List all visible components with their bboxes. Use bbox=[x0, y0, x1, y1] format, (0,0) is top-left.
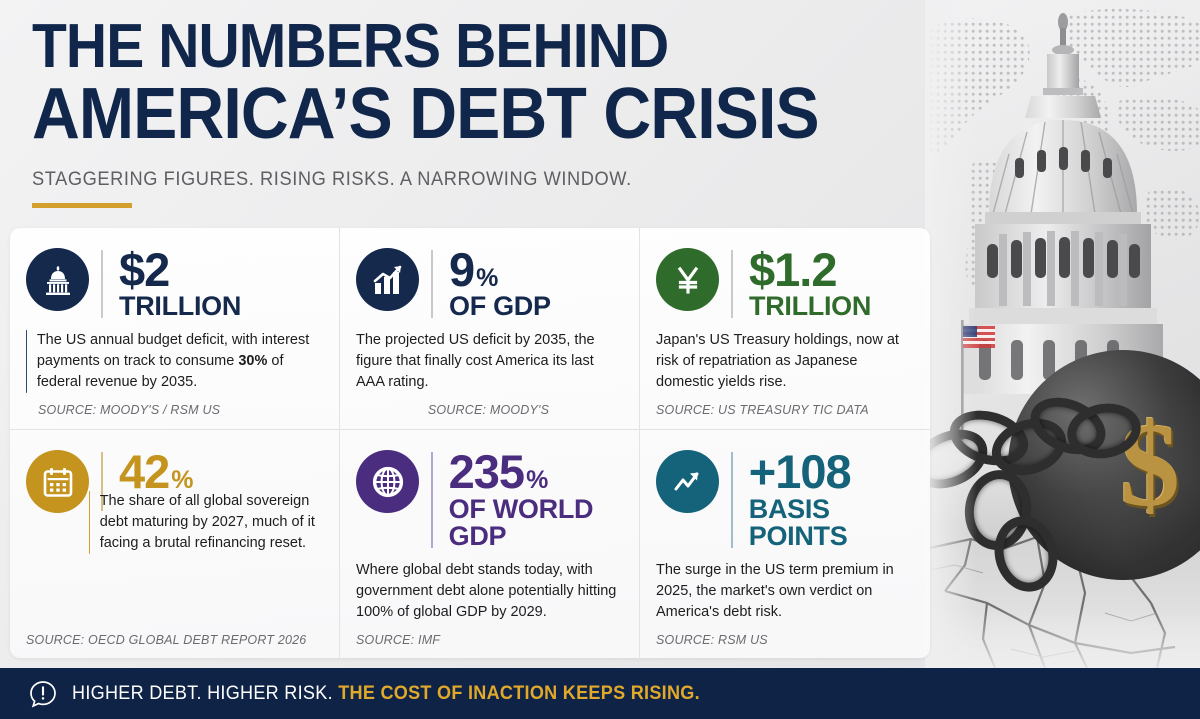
card-divider-rule bbox=[731, 250, 733, 318]
stat-description: Japan's US Treasury holdings, now at ris… bbox=[656, 330, 912, 393]
page-title-line1: THE NUMBERS BEHIND bbox=[32, 18, 768, 75]
stat-value: 9% bbox=[449, 248, 551, 291]
stat-source: SOURCE: IMF bbox=[356, 623, 621, 647]
stat-card-gdp-share: 9% OF GDP The projected US deficit by 20… bbox=[340, 228, 640, 430]
trending-up-arrow-icon bbox=[656, 450, 719, 513]
stat-description: The projected US deficit by 2035, the fi… bbox=[356, 330, 621, 393]
page-subtitle: STAGGERING FIGURES. RISING RISKS. A NARR… bbox=[32, 169, 800, 191]
stat-figure: $1.2 TRILLION bbox=[749, 248, 871, 320]
stat-card-world-debt: 235% OF WORLD GDP Where global debt stan… bbox=[340, 430, 640, 658]
stat-description: Where global debt stands today, with gov… bbox=[356, 560, 621, 623]
stat-figure: 235% OF WORLD GDP bbox=[449, 450, 621, 549]
stat-source: SOURCE: RSM US bbox=[656, 623, 912, 647]
card-divider-rule bbox=[431, 452, 433, 547]
stat-unit: TRILLION bbox=[749, 293, 871, 320]
stat-description: The US annual budget deficit, with inter… bbox=[37, 330, 321, 393]
infographic-root: $ THE NUMBERS BEHIND AMERICA’S DEBT CRIS… bbox=[0, 0, 1200, 719]
stat-unit: BASIS POINTS bbox=[749, 496, 912, 550]
stat-source: SOURCE: MOODY'S / RSM US bbox=[26, 393, 321, 417]
card-divider-rule bbox=[731, 452, 733, 547]
stat-figure: +108 BASIS POINTS bbox=[749, 450, 912, 549]
photo-bottom-fade bbox=[925, 608, 1200, 668]
page-header: THE NUMBERS BEHIND AMERICA’S DEBT CRISIS… bbox=[32, 18, 832, 208]
footer-bar: HIGHER DEBT. HIGHER RISK. THE COST OF IN… bbox=[0, 668, 1200, 719]
desc-accent-rule bbox=[26, 330, 27, 393]
stats-panel: $2 TRILLION The US annual budget deficit… bbox=[10, 228, 930, 658]
stat-figure: 9% OF GDP bbox=[449, 248, 551, 320]
stat-card-deficit: $2 TRILLION The US annual budget deficit… bbox=[10, 228, 340, 430]
stat-source: SOURCE: MOODY'S bbox=[356, 393, 621, 417]
bar-chart-growth-icon bbox=[356, 248, 419, 311]
stat-value: +108 bbox=[749, 450, 912, 493]
stat-unit: TRILLION bbox=[119, 293, 241, 320]
footer-text-highlight: THE COST OF INACTION KEEPS RISING. bbox=[338, 683, 700, 704]
alert-speech-bubble-icon bbox=[28, 679, 58, 709]
footer-text: HIGHER DEBT. HIGHER RISK. THE COST OF IN… bbox=[72, 683, 700, 705]
stat-description: The share of all global sovereign debt m… bbox=[100, 491, 321, 554]
capitol-building-icon bbox=[26, 248, 89, 311]
stat-description: The surge in the US term premium in 2025… bbox=[656, 560, 912, 623]
card-divider-rule bbox=[431, 250, 433, 318]
stat-value: $2 bbox=[119, 248, 241, 291]
hero-photo-collage: $ bbox=[925, 0, 1200, 668]
stat-source: SOURCE: OECD GLOBAL DEBT REPORT 2026 bbox=[26, 623, 321, 647]
stat-card-japan-holdings: $1.2 TRILLION Japan's US Treasury holdin… bbox=[640, 228, 930, 430]
page-title-line2: AMERICA’S DEBT CRISIS bbox=[32, 81, 768, 147]
stat-source: SOURCE: US TREASURY TIC DATA bbox=[656, 393, 912, 417]
footer-text-white: HIGHER DEBT. HIGHER RISK. bbox=[72, 683, 333, 704]
stat-unit: OF GDP bbox=[449, 293, 551, 320]
stat-value: 235% bbox=[449, 450, 621, 493]
stat-card-term-premium: +108 BASIS POINTS The surge in the US te… bbox=[640, 430, 930, 658]
card-divider-rule bbox=[101, 250, 103, 318]
stat-value: $1.2 bbox=[749, 248, 871, 291]
stat-figure: $2 TRILLION bbox=[119, 248, 241, 320]
yen-currency-icon bbox=[656, 248, 719, 311]
header-accent-bar bbox=[32, 203, 132, 208]
stat-figure: 42% bbox=[119, 450, 193, 495]
stat-unit: OF WORLD GDP bbox=[449, 496, 621, 550]
stat-card-maturing-debt: 42% The share of all global sovereign de… bbox=[10, 430, 340, 658]
stat-value: 42% bbox=[119, 450, 193, 493]
globe-icon bbox=[356, 450, 419, 513]
desc-accent-rule bbox=[89, 491, 90, 554]
photo-left-fade bbox=[925, 0, 977, 668]
